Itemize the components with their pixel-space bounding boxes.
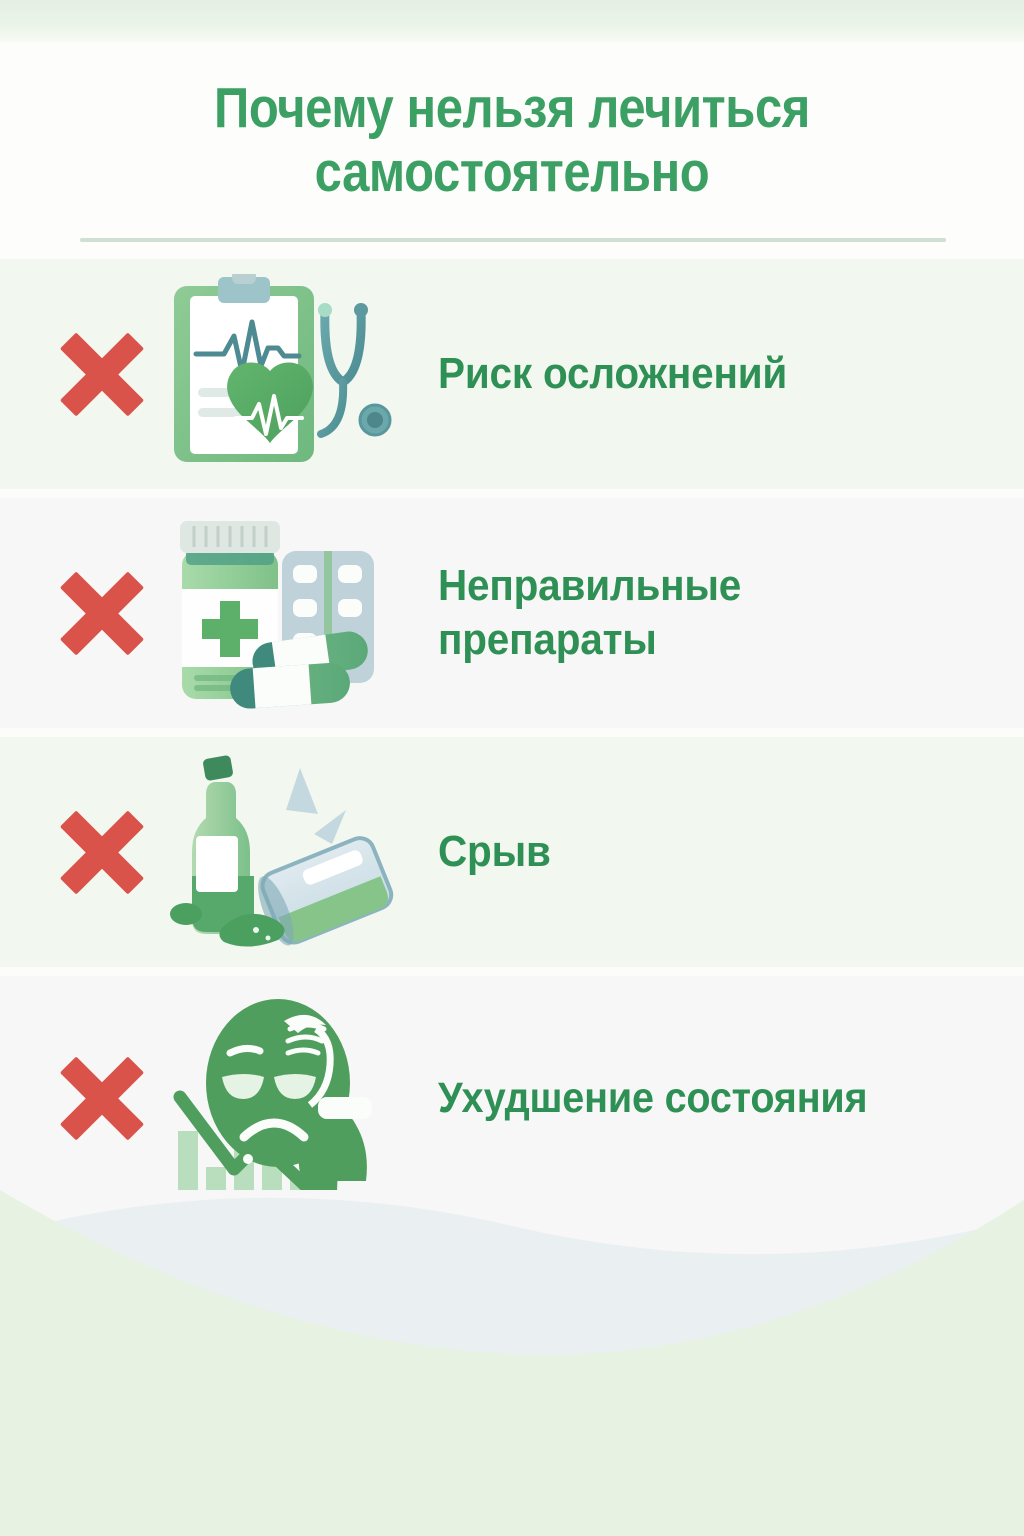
- page-title: Почему нельзя лечиться самостоятельно: [72, 76, 953, 204]
- bottle-spilled-glass-icon: [160, 752, 410, 952]
- reason-label: Риск осложнений: [438, 347, 787, 401]
- pill-bottle-blister-capsules-icon: [160, 513, 410, 713]
- title-divider: [80, 238, 946, 242]
- reason-label: Неправильные препараты: [438, 559, 741, 667]
- sad-person-declining-chart-icon: [160, 998, 410, 1198]
- reason-row-3: Срыв: [0, 737, 1024, 967]
- red-cross-icon: [54, 804, 150, 900]
- reason-label: Ухудшение состояния: [438, 1071, 867, 1125]
- reason-row-2: Неправильные препараты: [0, 498, 1024, 728]
- reason-row-1: Риск осложнений: [0, 259, 1024, 489]
- clipboard-heart-stethoscope-icon: [160, 274, 410, 474]
- bottom-wave-decoration: [0, 1190, 1024, 1536]
- top-green-band: [0, 0, 1024, 42]
- poster-header: Почему нельзя лечиться самостоятельно: [0, 42, 1024, 258]
- red-cross-icon: [54, 1050, 150, 1146]
- reason-row-4: Ухудшение состояния: [0, 976, 1024, 1220]
- red-cross-icon: [54, 326, 150, 422]
- infographic-poster: Почему нельзя лечиться самостоятельно: [0, 0, 1024, 1536]
- red-cross-icon: [54, 565, 150, 661]
- reason-label: Срыв: [438, 825, 551, 879]
